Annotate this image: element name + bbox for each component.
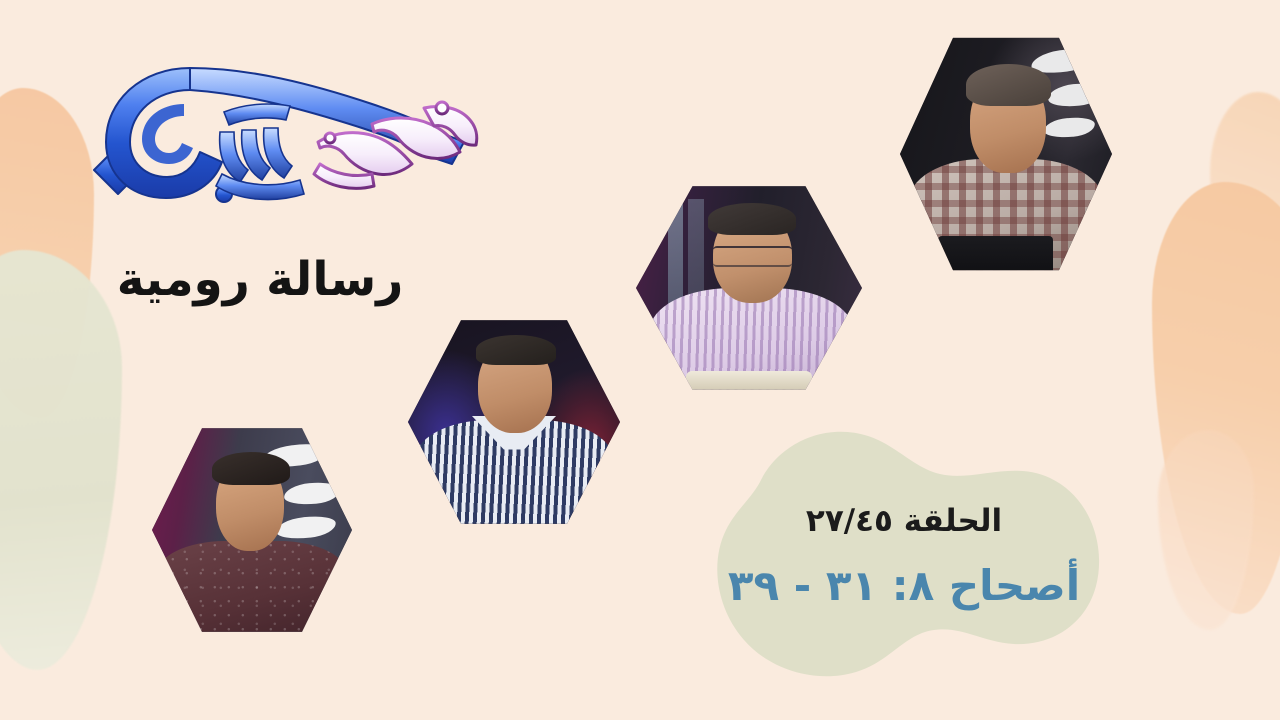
program-logo	[72, 46, 492, 221]
watercolor-stroke-peach-right-lower	[1158, 430, 1254, 630]
episode-number-label: الحلقة ٢٧/٤٥	[806, 503, 1002, 539]
episode-info-blob: الحلقة ٢٧/٤٥ أصحاح ٨: ٣١ - ٣٩	[682, 430, 1126, 682]
episode-title-card: رسالة رومية	[0, 0, 1280, 720]
eyeglasses-icon	[713, 246, 792, 267]
guest-photo-middle-left	[408, 316, 620, 528]
open-book	[686, 371, 813, 394]
guest-torso	[156, 541, 348, 636]
guest-hair	[708, 203, 796, 235]
logo-word-alkotob	[216, 104, 304, 200]
verse-reference-label: أصحاح ٨: ٣١ - ٣٩	[728, 561, 1080, 610]
watercolor-stroke-peach-right-top	[1210, 92, 1280, 292]
guest-photo-top-right	[900, 33, 1112, 275]
laptop-screen	[938, 236, 1052, 275]
guest-hair	[476, 335, 557, 365]
guest-photo-bottom-left	[152, 424, 352, 636]
watercolor-stroke-peach-right	[1152, 182, 1280, 614]
guest-hair	[966, 64, 1051, 105]
program-title: رسالة رومية	[100, 252, 420, 307]
watercolor-stroke-sage-left	[0, 250, 122, 670]
guest-hair	[212, 452, 290, 486]
guest-photo-center	[636, 182, 862, 394]
